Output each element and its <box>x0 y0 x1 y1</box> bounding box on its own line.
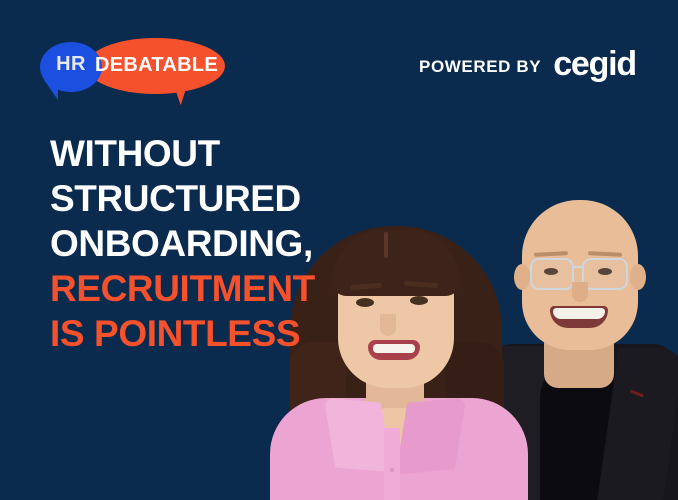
female-shirt-placket <box>384 428 400 500</box>
female-collar-right <box>396 398 467 475</box>
male-mouth <box>550 306 608 328</box>
headline-line-2: STRUCTURED <box>50 176 315 221</box>
podcast-thumbnail-canvas: HR DEBATABLE POWERED BY cegid WITHOUT ST… <box>0 0 678 500</box>
male-teeth <box>553 308 605 319</box>
headline-line-4: RECRUITMENT <box>50 266 315 311</box>
male-nose <box>572 282 588 302</box>
female-hair-part <box>384 232 388 258</box>
headline-line-5: IS POINTLESS <box>50 311 315 356</box>
male-glasses-left-lens <box>530 258 574 290</box>
female-lips <box>368 340 420 360</box>
female-collar-left <box>324 398 392 473</box>
female-eye-left <box>356 298 374 307</box>
female-shirt-button <box>390 468 394 472</box>
headline-block: WITHOUT STRUCTURED ONBOARDING, RECRUITME… <box>50 131 315 356</box>
male-glasses-right-lens <box>582 258 628 290</box>
female-nose <box>380 314 396 336</box>
male-ear-right <box>630 264 646 290</box>
female-eye-right <box>410 296 428 305</box>
male-glasses-bridge <box>573 266 584 268</box>
headline-line-3: ONBOARDING, <box>50 221 315 266</box>
headline-line-1: WITHOUT <box>50 131 315 176</box>
female-teeth <box>373 344 415 353</box>
